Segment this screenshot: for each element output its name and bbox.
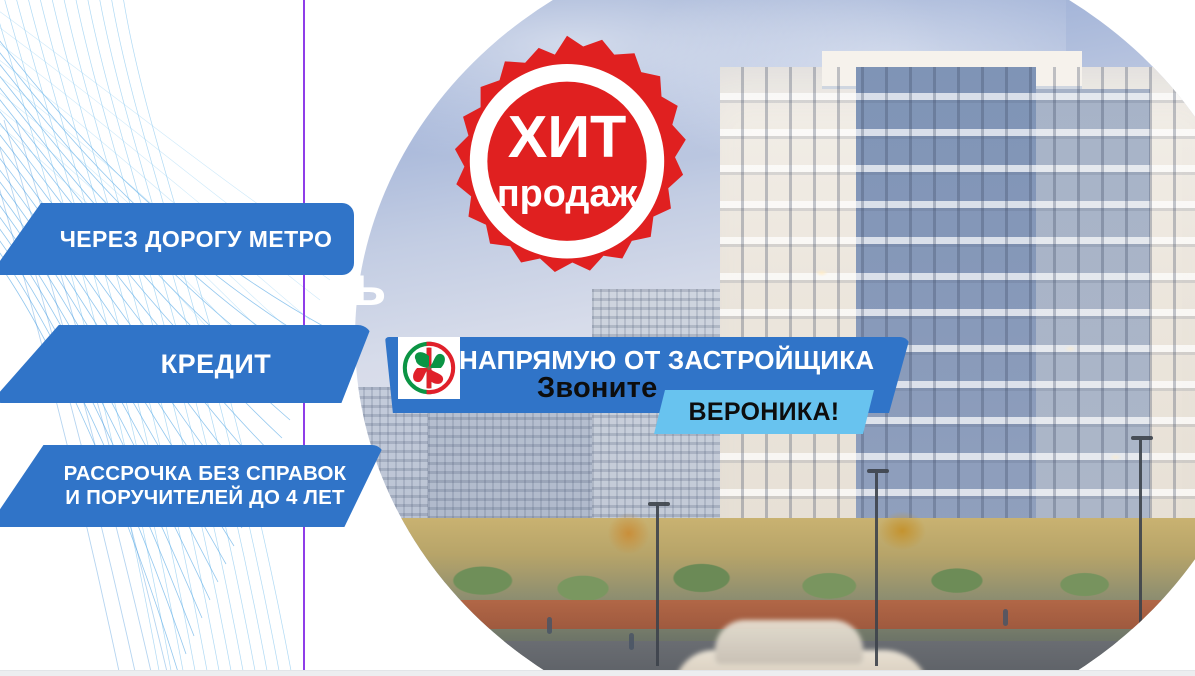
- ribbon-metro[interactable]: ЧЕРЕЗ ДОРОГУ МЕТРО: [0, 203, 354, 275]
- sale-hit-seal-icon: ХИТ продаж: [432, 33, 702, 303]
- ribbon-instalment-line2: И ПОРУЧИТЕЛЕЙ ДО 4 ЛЕТ: [64, 486, 347, 510]
- ribbon-instalment-line1: РАССРОЧКА БЕЗ СПРАВОК: [64, 462, 347, 486]
- ribbon-metro-label: ЧЕРЕЗ ДОРОГУ МЕТРО: [60, 227, 333, 251]
- bottom-strip: [0, 670, 1195, 676]
- lamp-post: [875, 469, 878, 666]
- promo-banner-canvas: ь ХИТ продаж ЧЕРЕЗ ДОРОГУ МЕТРО КРЕДИТ Р…: [0, 0, 1195, 676]
- lamp-post: [1139, 436, 1142, 666]
- pedestrian: [629, 633, 634, 650]
- badge-line1: ХИТ: [508, 103, 627, 170]
- contact-name-label: ВЕРОНИКА!: [689, 398, 840, 427]
- direct-headline: НАПРЯМУЮ ОТ ЗАСТРОЙЩИКА: [459, 347, 874, 374]
- stray-letter-glyph: ь: [352, 258, 386, 314]
- badge-line2: продаж: [497, 173, 639, 215]
- pedestrian: [1003, 609, 1008, 626]
- direct-call-text: Звоните: [537, 373, 657, 403]
- ribbon-credit-label: КРЕДИТ: [161, 350, 272, 378]
- clover-logo-icon: [398, 337, 460, 399]
- lamp-post: [656, 502, 659, 666]
- ribbon-contact-name[interactable]: ВЕРОНИКА!: [654, 390, 874, 434]
- pedestrian: [547, 617, 552, 634]
- ribbon-instalment[interactable]: РАССРОЧКА БЕЗ СПРАВОК И ПОРУЧИТЕЛЕЙ ДО 4…: [0, 445, 384, 527]
- ribbon-credit[interactable]: КРЕДИТ: [0, 325, 372, 403]
